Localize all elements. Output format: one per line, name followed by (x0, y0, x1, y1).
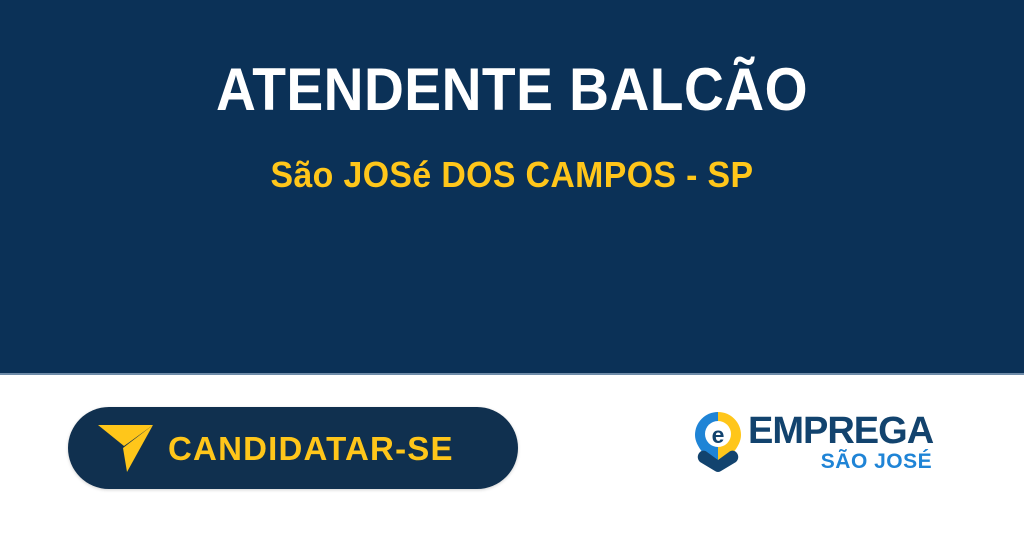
brand-logo[interactable]: e EMPREGA SÃO JOSÉ (694, 411, 933, 473)
map-pin-icon: e (694, 411, 742, 473)
apply-button-label: CANDIDATAR-SE (168, 432, 454, 465)
brand-subtitle: SÃO JOSÉ (821, 451, 932, 472)
hero-section: ATENDENTE BALCÃO São JOSé DOS CAMPOS - S… (0, 0, 1024, 375)
footer-section: CANDIDATAR-SE e EMPREGA (0, 375, 1024, 538)
job-posting-card: ATENDENTE BALCÃO São JOSé DOS CAMPOS - S… (0, 0, 1024, 538)
job-location: São JOSé DOS CAMPOS - SP (31, 155, 994, 195)
send-paper-plane-icon (96, 419, 168, 477)
brand-wordmark: EMPREGA SÃO JOSÉ (748, 412, 933, 472)
brand-name: EMPREGA (748, 412, 933, 450)
apply-button[interactable]: CANDIDATAR-SE (68, 407, 518, 489)
page-title: ATENDENTE BALCÃO (41, 58, 983, 121)
svg-text:e: e (712, 422, 725, 448)
hero-content: ATENDENTE BALCÃO São JOSé DOS CAMPOS - S… (0, 0, 1024, 195)
